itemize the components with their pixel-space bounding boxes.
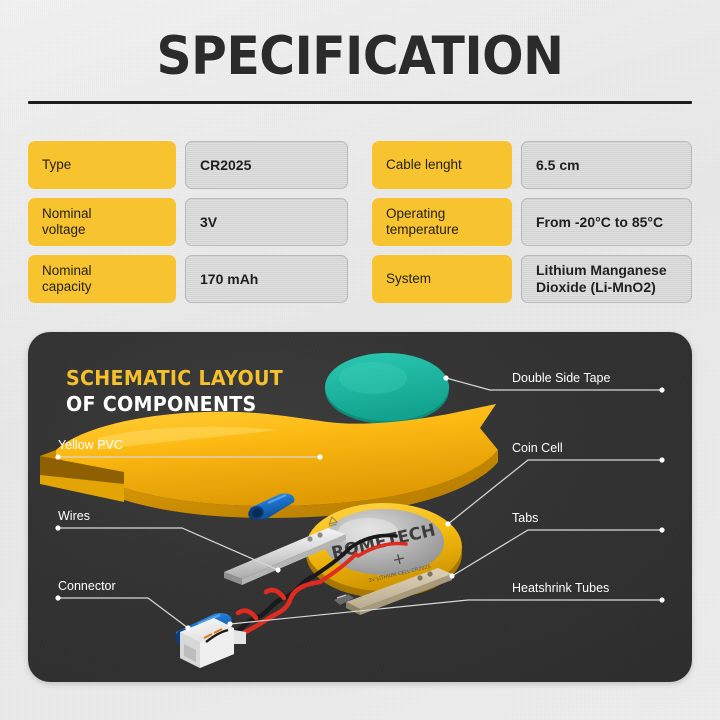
schematic-panel: SCHEMATIC LAYOUT OF COMPONENTS xyxy=(28,332,692,682)
callout-wires: Wires xyxy=(58,509,90,524)
callout-tabs: Tabs xyxy=(512,511,692,526)
callout-double-side-tape: Double Side Tape xyxy=(512,371,692,386)
spec-row: Cable lenght 6.5 cm xyxy=(372,141,692,189)
spec-value: 3V xyxy=(185,198,348,246)
page-title: SPECIFICATION xyxy=(29,28,691,86)
spec-label: Operatingtemperature xyxy=(372,198,512,246)
callout-heatshrink-tubes: Heatshrink Tubes xyxy=(512,581,692,596)
infographic-page: SPECIFICATION Type CR2025 Nominalvoltage… xyxy=(0,0,720,720)
spec-label: Nominalcapacity xyxy=(28,255,176,303)
callout-connector: Connector xyxy=(58,579,116,594)
double-side-tape-part xyxy=(325,353,449,424)
spec-column-left: Type CR2025 Nominalvoltage 3V Nominalcap… xyxy=(28,141,348,307)
spec-row: Nominalvoltage 3V xyxy=(28,198,348,246)
spec-row: System Lithium ManganeseDioxide (Li-MnO2… xyxy=(372,255,692,303)
spec-value: From -20°C to 85°C xyxy=(521,198,692,246)
spec-label: Type xyxy=(28,141,176,189)
spec-column-right: Cable lenght 6.5 cm Operatingtemperature… xyxy=(372,141,692,307)
spec-label: Cable lenght xyxy=(372,141,512,189)
callout-yellow-pvc: Yellow PVC xyxy=(58,438,123,453)
spec-row: Operatingtemperature From -20°C to 85°C xyxy=(372,198,692,246)
header-divider xyxy=(28,101,692,104)
spec-row: Type CR2025 xyxy=(28,141,348,189)
callout-coin-cell: Coin Cell xyxy=(512,441,692,456)
spec-value: 6.5 cm xyxy=(521,141,692,189)
spec-value: CR2025 xyxy=(185,141,348,189)
spec-label: System xyxy=(372,255,512,303)
spec-value: 170 mAh xyxy=(185,255,348,303)
specification-table: Type CR2025 Nominalvoltage 3V Nominalcap… xyxy=(28,141,692,307)
spec-label: Nominalvoltage xyxy=(28,198,176,246)
spec-value: Lithium ManganeseDioxide (Li-MnO2) xyxy=(521,255,692,303)
spec-row: Nominalcapacity 170 mAh xyxy=(28,255,348,303)
